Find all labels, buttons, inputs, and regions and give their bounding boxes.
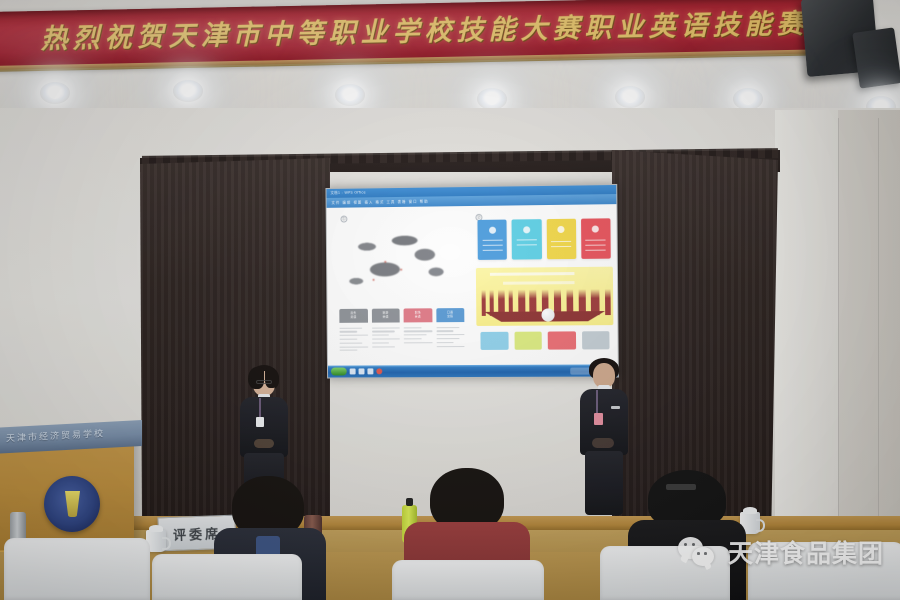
ceiling-light: [40, 82, 70, 104]
category-badge: 商务英语: [339, 309, 367, 323]
wall-right-panel: [838, 110, 900, 520]
category-badge: 口语交际: [436, 308, 465, 322]
mini-card: [548, 331, 576, 349]
mini-card: [514, 332, 542, 350]
projection-screen: 文档1 - WPS Office 文件 编辑 视图 插入 格式 工具 表格 窗口…: [325, 184, 618, 379]
watermark-account-name: 天津食品集团: [728, 534, 884, 570]
slide-right-column: ②: [473, 210, 609, 365]
photo-scene: 热烈祝贺天津市中等职业学校技能大赛职业英语技能赛项圆 文档1 - WPS Off…: [0, 0, 900, 600]
ceiling-light: [477, 88, 507, 110]
lanyard: [596, 390, 598, 414]
wall-seam: [878, 118, 879, 518]
banner-text: 热烈祝贺天津市中等职业学校技能大赛职业英语技能赛项圆: [40, 0, 871, 56]
color-card: [512, 219, 542, 259]
ceiling-light: [173, 80, 203, 102]
chair-cover: [152, 554, 302, 600]
presenter-male: [575, 358, 637, 518]
text-column-group: [339, 324, 464, 354]
projected-document-canvas: ① 商务英语 旅游英语 职场英语 口语交际: [327, 204, 618, 365]
color-card: [477, 220, 507, 260]
category-badge: 旅游英语: [371, 309, 399, 323]
badge: [594, 413, 603, 425]
color-card: [581, 218, 611, 259]
wechat-icon: [678, 537, 720, 567]
wall-corner-panel: [775, 110, 841, 518]
lanyard: [259, 398, 261, 418]
chair-cover: [4, 538, 150, 600]
taskbar-icon-alert: [376, 368, 382, 374]
category-badge: 职场英语: [404, 308, 432, 322]
slide-left-column: ① 商务英语 旅游英语 职场英语 口语交际: [335, 212, 469, 366]
badge: [256, 417, 264, 427]
cap-logo: [666, 484, 696, 490]
wall-seam: [838, 118, 839, 518]
taskbar-icon: [350, 368, 356, 374]
chair-cover: [392, 560, 544, 600]
mini-card: [480, 332, 508, 350]
mini-card-row: [480, 331, 609, 350]
color-card-row: [477, 218, 610, 260]
slide-marker-one: ①: [340, 216, 347, 223]
school-emblem-icon: [44, 476, 100, 532]
category-badge-row: 商务英语 旅游英语 职场英语 口语交际: [339, 308, 464, 323]
mini-card: [582, 331, 610, 349]
world-map-graphic: [343, 224, 455, 297]
taskbar-icon: [367, 368, 373, 374]
wechat-watermark: 天津食品集团: [678, 534, 884, 570]
ceiling-light: [335, 84, 365, 106]
color-card: [546, 219, 576, 260]
skyline-infographic-panel: [476, 267, 614, 326]
ceiling-light: [733, 88, 763, 110]
start-button-icon: [331, 368, 347, 376]
ceiling-speaker-secondary-icon: [852, 27, 900, 88]
taskbar-icon: [359, 368, 365, 374]
ceiling-light: [615, 86, 645, 108]
